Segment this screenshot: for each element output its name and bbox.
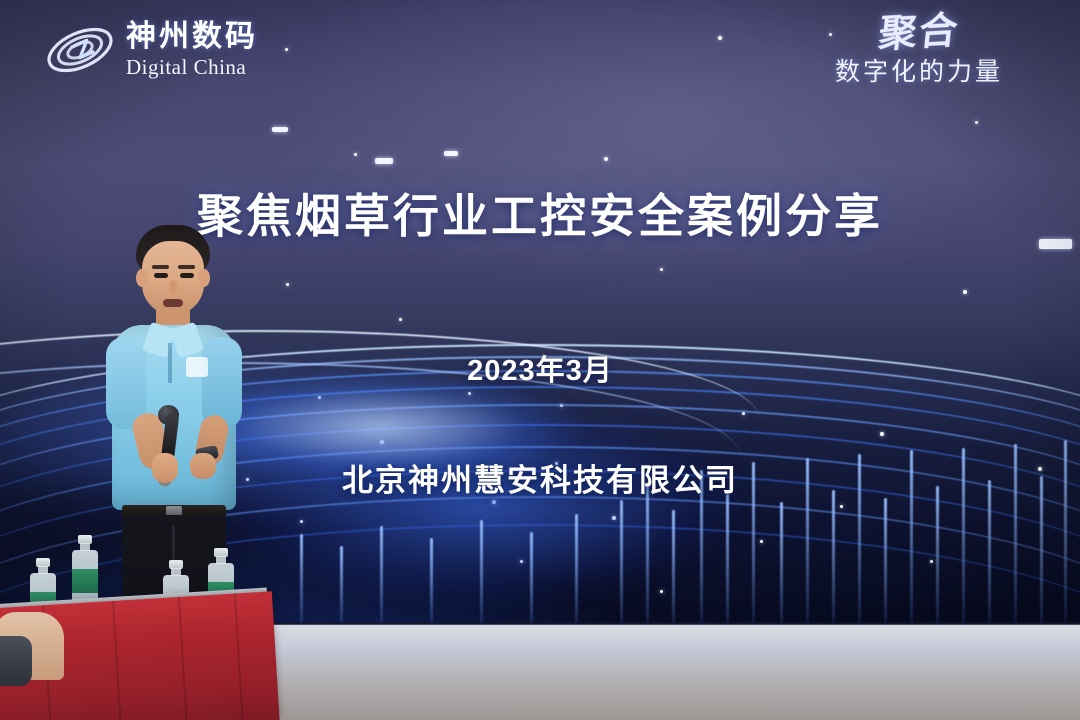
stage-photo: 神州数码 Digital China 聚合 数字化的力量 聚焦烟草行业工控安全案…: [0, 0, 1080, 720]
presenter-nose: [169, 280, 177, 294]
brand-logo: 神州数码 Digital China: [44, 18, 258, 82]
slogan-headline: 聚合: [877, 12, 961, 52]
slogan-subline: 数字化的力量: [784, 52, 1054, 88]
presenter-eye-left: [154, 273, 168, 278]
bottle-label: [72, 569, 98, 593]
presenter-hand-right: [190, 453, 216, 479]
presenter-eye-right: [180, 273, 194, 278]
presenter-ear-right: [198, 269, 210, 287]
swirl-galaxy-logo-icon: [44, 18, 116, 82]
presenter-mouth: [163, 299, 183, 307]
presenter-shirt-logo: [186, 357, 208, 377]
logo-chinese-name: 神州数码: [126, 22, 258, 52]
logo-english-name: Digital China: [126, 57, 258, 78]
presenter-eyebrow-left: [152, 265, 169, 269]
presenter-shirt-placket: [168, 343, 172, 383]
event-slogan: 聚合 数字化的力量: [784, 14, 1054, 88]
seated-attendee-sleeve: [0, 636, 32, 686]
presenter-ear-left: [136, 269, 148, 287]
presenter-hand-left: [152, 453, 178, 483]
presenter-eyebrow-right: [178, 265, 195, 269]
